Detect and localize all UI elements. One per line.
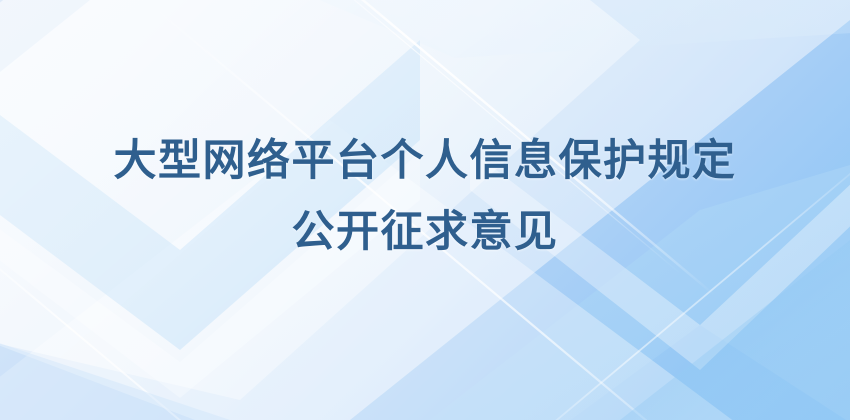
promo-banner: 大型网络平台个人信息保护规定 公开征求意见 — [0, 0, 850, 420]
chevron-panel-top-center-group — [160, 0, 850, 58]
edge-accent-right — [620, 240, 850, 420]
banner-title-line-2: 公开征求意见 — [0, 211, 850, 254]
banner-title-line-1: 大型网络平台个人信息保护规定 — [0, 140, 850, 183]
edge-accent-bottom-left — [0, 330, 230, 420]
banner-title-block: 大型网络平台个人信息保护规定 公开征求意见 — [0, 140, 850, 254]
